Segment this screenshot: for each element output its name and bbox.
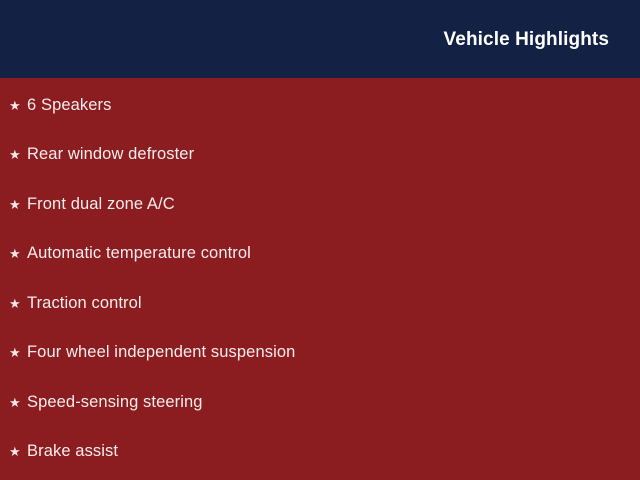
star-icon: ★ — [9, 297, 27, 310]
list-item: ★ Automatic temperature control — [9, 242, 251, 266]
list-item-label: Rear window defroster — [27, 146, 194, 163]
list-item: ★ Traction control — [9, 291, 142, 315]
list-item: ★ Brake assist — [9, 440, 118, 464]
page-title: Vehicle Highlights — [444, 30, 609, 49]
list-item-label: Brake assist — [27, 443, 118, 460]
star-icon: ★ — [9, 148, 27, 161]
vehicle-highlights-slide: Vehicle Highlights ★ 6 Speakers ★ Rear w… — [0, 0, 640, 480]
list-item: ★ 6 Speakers — [9, 93, 111, 117]
star-icon: ★ — [9, 99, 27, 112]
star-icon: ★ — [9, 247, 27, 260]
star-icon: ★ — [9, 198, 27, 211]
list-item-label: 6 Speakers — [27, 97, 111, 114]
slide-header: Vehicle Highlights — [0, 0, 640, 78]
star-icon: ★ — [9, 396, 27, 409]
list-item: ★ Speed-sensing steering — [9, 390, 203, 414]
list-item-label: Traction control — [27, 295, 142, 312]
highlights-panel: ★ 6 Speakers ★ Rear window defroster ★ F… — [0, 78, 640, 480]
list-item: ★ Front dual zone A/C — [9, 192, 175, 216]
list-item-label: Four wheel independent suspension — [27, 344, 295, 361]
star-icon: ★ — [9, 445, 27, 458]
list-item: ★ Rear window defroster — [9, 143, 194, 167]
list-item-label: Automatic temperature control — [27, 245, 251, 262]
list-item-label: Speed-sensing steering — [27, 394, 203, 411]
star-icon: ★ — [9, 346, 27, 359]
list-item: ★ Four wheel independent suspension — [9, 341, 295, 365]
list-item-label: Front dual zone A/C — [27, 196, 175, 213]
